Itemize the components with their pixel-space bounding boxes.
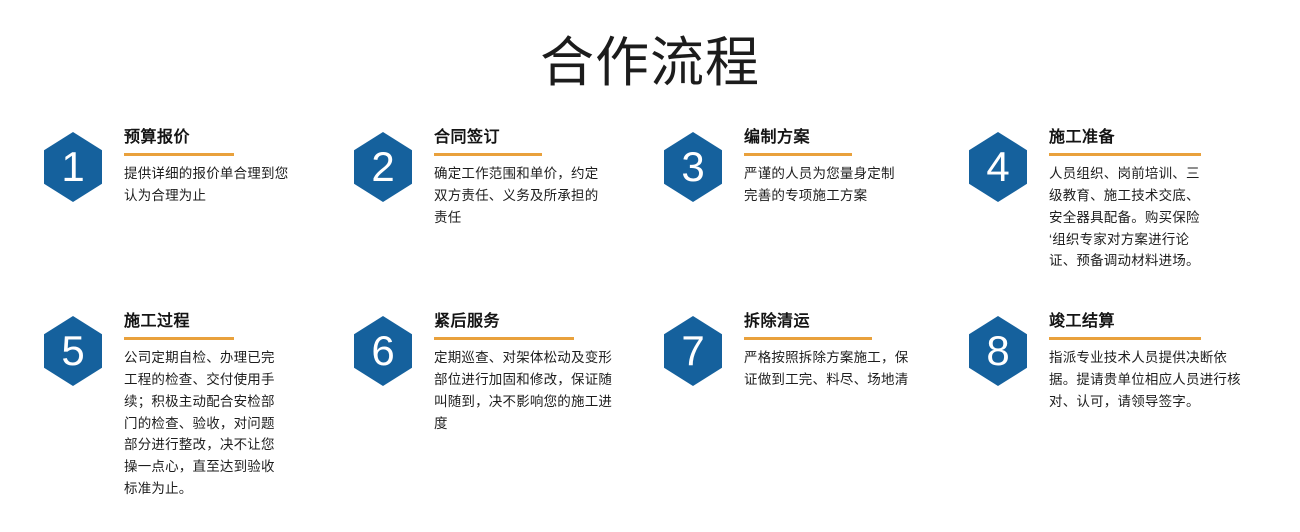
step-divider — [744, 153, 852, 156]
step-description: 公司定期自检、办理已完工程的检查、交付使用手续；积极主动配合安检部门的检查、验收… — [124, 347, 286, 500]
step-content: 拆除清运 严格按照拆除方案施工，保证做到工完、料尽、场地清 — [744, 312, 920, 391]
process-step-2[interactable]: 2 合同签订 确定工作范围和单价，约定双方责任、义务及所承担的责任 — [354, 128, 664, 308]
step-description: 指派专业技术人员提供决断依据。提请贵单位相应人员进行核对、认可，请领导签字。 — [1049, 347, 1245, 413]
process-steps-grid: 1 预算报价 提供详细的报价单合理到您认为合理为止 2 合同签订 确定工作范围和… — [0, 128, 1300, 500]
step-number: 6 — [371, 330, 394, 372]
step-badge-7: 7 — [664, 316, 722, 386]
step-description: 确定工作范围和单价，约定双方责任、义务及所承担的责任 — [434, 163, 612, 229]
step-divider — [1049, 337, 1201, 340]
step-badge-3: 3 — [664, 132, 722, 202]
step-badge-1: 1 — [44, 132, 102, 202]
process-step-4[interactable]: 4 施工准备 人员组织、岗前培训、三级教育、施工技术交底、安全器具配备。购买保险… — [969, 128, 1300, 308]
hexagon-shape: 7 — [664, 316, 722, 386]
step-divider — [124, 337, 234, 340]
step-title: 施工准备 — [1049, 128, 1211, 148]
hexagon-shape: 1 — [44, 132, 102, 202]
hexagon-shape: 3 — [664, 132, 722, 202]
step-title: 紧后服务 — [434, 312, 614, 332]
step-content: 合同签订 确定工作范围和单价，约定双方责任、义务及所承担的责任 — [434, 128, 612, 229]
step-content: 竣工结算 指派专业技术人员提供决断依据。提请贵单位相应人员进行核对、认可，请领导… — [1049, 312, 1245, 413]
hexagon-shape: 6 — [354, 316, 412, 386]
process-step-6[interactable]: 6 紧后服务 定期巡查、对架体松动及变形部位进行加固和修改，保证随叫随到，决不影… — [354, 312, 664, 500]
step-content: 施工过程 公司定期自检、办理已完工程的检查、交付使用手续；积极主动配合安检部门的… — [124, 312, 286, 500]
step-description: 严格按照拆除方案施工，保证做到工完、料尽、场地清 — [744, 347, 920, 391]
step-number: 1 — [61, 146, 84, 188]
process-step-7[interactable]: 7 拆除清运 严格按照拆除方案施工，保证做到工完、料尽、场地清 — [664, 312, 969, 500]
step-number: 8 — [986, 330, 1009, 372]
step-title: 编制方案 — [744, 128, 896, 148]
step-number: 2 — [371, 146, 394, 188]
step-title: 拆除清运 — [744, 312, 920, 332]
hexagon-shape: 5 — [44, 316, 102, 386]
step-description: 人员组织、岗前培训、三级教育、施工技术交底、安全器具配备。购买保险 ‘组织专家对… — [1049, 163, 1211, 272]
step-divider — [124, 153, 234, 156]
step-content: 施工准备 人员组织、岗前培训、三级教育、施工技术交底、安全器具配备。购买保险 ‘… — [1049, 128, 1211, 272]
step-number: 4 — [986, 146, 1009, 188]
step-title: 预算报价 — [124, 128, 296, 148]
step-divider — [434, 153, 542, 156]
step-divider — [434, 337, 574, 340]
hexagon-shape: 8 — [969, 316, 1027, 386]
step-description: 提供详细的报价单合理到您认为合理为止 — [124, 163, 296, 207]
step-number: 5 — [61, 330, 84, 372]
step-badge-4: 4 — [969, 132, 1027, 202]
page-title: 合作流程 — [0, 0, 1300, 90]
step-description: 严谨的人员为您量身定制完善的专项施工方案 — [744, 163, 896, 207]
step-content: 预算报价 提供详细的报价单合理到您认为合理为止 — [124, 128, 296, 207]
process-step-8[interactable]: 8 竣工结算 指派专业技术人员提供决断依据。提请贵单位相应人员进行核对、认可，请… — [969, 312, 1300, 500]
step-badge-6: 6 — [354, 316, 412, 386]
process-step-1[interactable]: 1 预算报价 提供详细的报价单合理到您认为合理为止 — [44, 128, 354, 308]
step-content: 编制方案 严谨的人员为您量身定制完善的专项施工方案 — [744, 128, 896, 207]
step-title: 施工过程 — [124, 312, 286, 332]
process-step-5[interactable]: 5 施工过程 公司定期自检、办理已完工程的检查、交付使用手续；积极主动配合安检部… — [44, 312, 354, 500]
step-description: 定期巡查、对架体松动及变形部位进行加固和修改，保证随叫随到，决不影响您的施工进度 — [434, 347, 614, 434]
hexagon-shape: 4 — [969, 132, 1027, 202]
step-badge-2: 2 — [354, 132, 412, 202]
process-step-3[interactable]: 3 编制方案 严谨的人员为您量身定制完善的专项施工方案 — [664, 128, 969, 308]
step-content: 紧后服务 定期巡查、对架体松动及变形部位进行加固和修改，保证随叫随到，决不影响您… — [434, 312, 614, 434]
step-divider — [1049, 153, 1201, 156]
hexagon-shape: 2 — [354, 132, 412, 202]
step-title: 竣工结算 — [1049, 312, 1245, 332]
step-title: 合同签订 — [434, 128, 612, 148]
step-badge-8: 8 — [969, 316, 1027, 386]
step-number: 7 — [681, 330, 704, 372]
step-number: 3 — [681, 146, 704, 188]
step-badge-5: 5 — [44, 316, 102, 386]
step-divider — [744, 337, 872, 340]
